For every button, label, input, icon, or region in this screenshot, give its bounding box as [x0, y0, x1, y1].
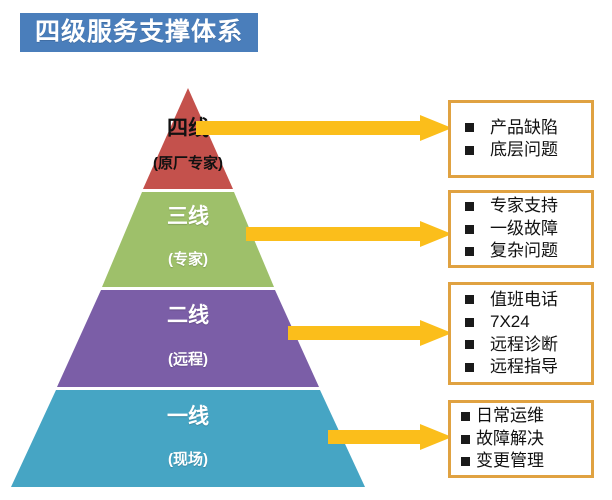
slide-canvas: 四级服务支撑体系 四线 (原厂专家) 三线 (专家) 二线 (远程) 一线 (现… — [0, 0, 612, 500]
square-bullet-icon — [465, 146, 474, 155]
arrow-tier-4 — [196, 115, 452, 141]
square-bullet-icon — [465, 123, 474, 132]
callout-item-text: 故障解决 — [476, 428, 544, 450]
square-bullet-icon — [465, 202, 474, 211]
square-bullet-icon — [461, 412, 470, 421]
pyramid-tier-2-shape[interactable] — [57, 290, 319, 387]
list-item: 复杂问题 — [461, 240, 585, 262]
arrow-tier-3 — [246, 221, 452, 247]
callout-item-text: 复杂问题 — [490, 240, 558, 262]
square-bullet-icon — [465, 363, 474, 372]
list-item: 值班电话 — [461, 289, 585, 311]
callout-item-text: 专家支持 — [490, 195, 558, 217]
square-bullet-icon — [465, 225, 474, 234]
callout-item-text: 变更管理 — [476, 450, 544, 472]
list-item: 远程指导 — [461, 356, 585, 378]
callout-tier-2-list: 值班电话 7X24 远程诊断 远程指导 — [451, 289, 591, 379]
list-item: 变更管理 — [461, 450, 585, 472]
list-item: 一级故障 — [461, 218, 585, 240]
callout-tier-4-list: 产品缺陷 底层问题 — [451, 117, 591, 162]
callout-item-text: 底层问题 — [490, 139, 558, 161]
square-bullet-icon — [465, 318, 474, 327]
list-item: 7X24 — [461, 311, 585, 333]
callout-item-text: 远程指导 — [490, 356, 558, 378]
callout-item-text: 远程诊断 — [490, 334, 558, 356]
list-item: 底层问题 — [461, 139, 585, 161]
callout-item-text: 日常运维 — [476, 405, 544, 427]
square-bullet-icon — [461, 435, 470, 444]
callout-item-text: 值班电话 — [490, 289, 558, 311]
square-bullet-icon — [465, 340, 474, 349]
arrow-tier-1 — [328, 424, 452, 450]
list-item: 产品缺陷 — [461, 117, 585, 139]
callout-item-text: 7X24 — [490, 311, 530, 333]
list-item: 远程诊断 — [461, 334, 585, 356]
pyramid-tier-1-shape[interactable] — [11, 390, 365, 487]
square-bullet-icon — [461, 457, 470, 466]
callout-tier-2[interactable]: 值班电话 7X24 远程诊断 远程指导 — [448, 282, 594, 385]
callout-tier-1-list: 日常运维 故障解决 变更管理 — [451, 405, 591, 472]
square-bullet-icon — [465, 295, 474, 304]
callout-tier-3[interactable]: 专家支持 一级故障 复杂问题 — [448, 190, 594, 268]
list-item: 专家支持 — [461, 195, 585, 217]
callout-tier-3-list: 专家支持 一级故障 复杂问题 — [451, 195, 591, 262]
list-item: 日常运维 — [461, 405, 585, 427]
callout-tier-4[interactable]: 产品缺陷 底层问题 — [448, 100, 594, 178]
list-item: 故障解决 — [461, 428, 585, 450]
callout-tier-1[interactable]: 日常运维 故障解决 变更管理 — [448, 400, 594, 478]
arrow-tier-2 — [288, 320, 452, 346]
square-bullet-icon — [465, 247, 474, 256]
callout-item-text: 产品缺陷 — [490, 117, 558, 139]
callout-item-text: 一级故障 — [490, 218, 558, 240]
